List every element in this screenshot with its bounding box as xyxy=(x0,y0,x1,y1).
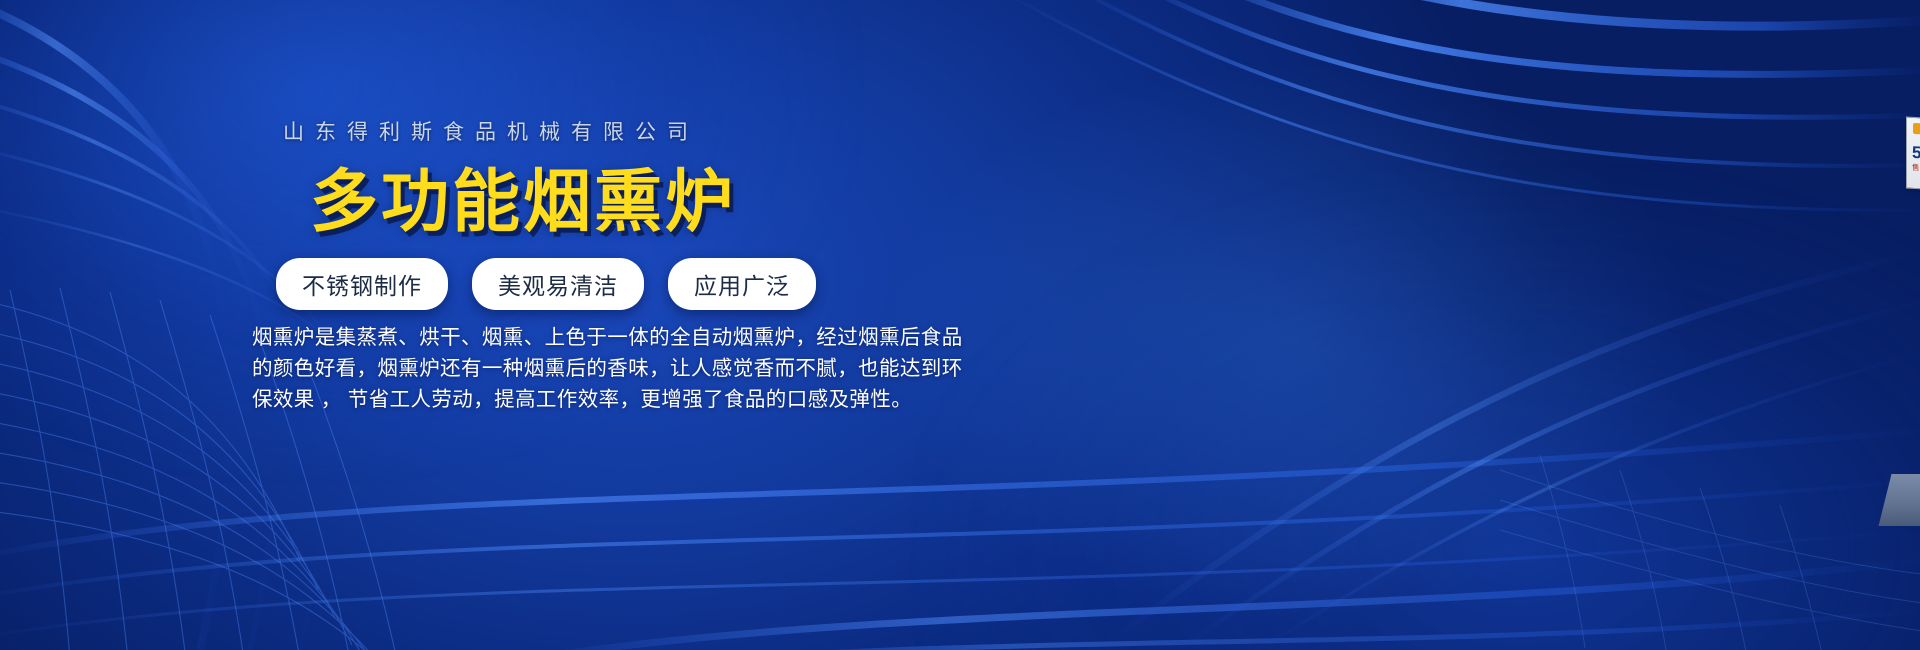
oven-brand-logo: 得利斯 xyxy=(1913,123,1920,136)
product-image-smokehouse-oven: 得利斯 500型烟熏炉 售后服务热线： 0536-6339124 xyxy=(930,22,1490,542)
description-line-2: 的颜色好看，烟熏炉还有一种烟熏后的香味，让人感觉香而不腻，也能达到环 xyxy=(252,353,812,384)
promo-banner: 山东得利斯食品机械有限公司 多功能烟熏炉 不锈钢制作 美观易清洁 应用广泛 烟熏… xyxy=(0,0,1920,650)
feature-badge-stainless[interactable]: 不锈钢制作 xyxy=(276,258,448,310)
brand-mark-icon xyxy=(1913,123,1920,135)
feature-badge-wide-use[interactable]: 应用广泛 xyxy=(668,258,816,310)
oven-model-sign: 得利斯 500型烟熏炉 售后服务热线： 0536-6339124 xyxy=(1906,117,1920,196)
product-description: 烟熏炉是集蒸煮、烘干、烟熏、上色于一体的全自动烟熏炉，经过烟熏后食品 的颜色好看… xyxy=(252,322,812,415)
company-name: 山东得利斯食品机械有限公司 xyxy=(283,116,699,146)
feature-badge-easy-clean[interactable]: 美观易清洁 xyxy=(472,258,644,310)
description-line-3: 保效果 ， 节省工人劳动，提高工作效率，更增强了食品的口感及弹性。 xyxy=(252,384,812,415)
description-line-1: 烟熏炉是集蒸煮、烘干、烟熏、上色于一体的全自动烟熏炉，经过烟熏后食品 xyxy=(252,322,812,353)
oven-service-line: 售后服务热线： 0536-6339124 xyxy=(1912,162,1920,179)
banner-text-content: 山东得利斯食品机械有限公司 多功能烟熏炉 不锈钢制作 美观易清洁 应用广泛 烟熏… xyxy=(0,0,900,650)
page-title: 多功能烟熏炉 xyxy=(310,168,736,236)
feature-badge-list: 不锈钢制作 美观易清洁 应用广泛 xyxy=(276,258,816,310)
